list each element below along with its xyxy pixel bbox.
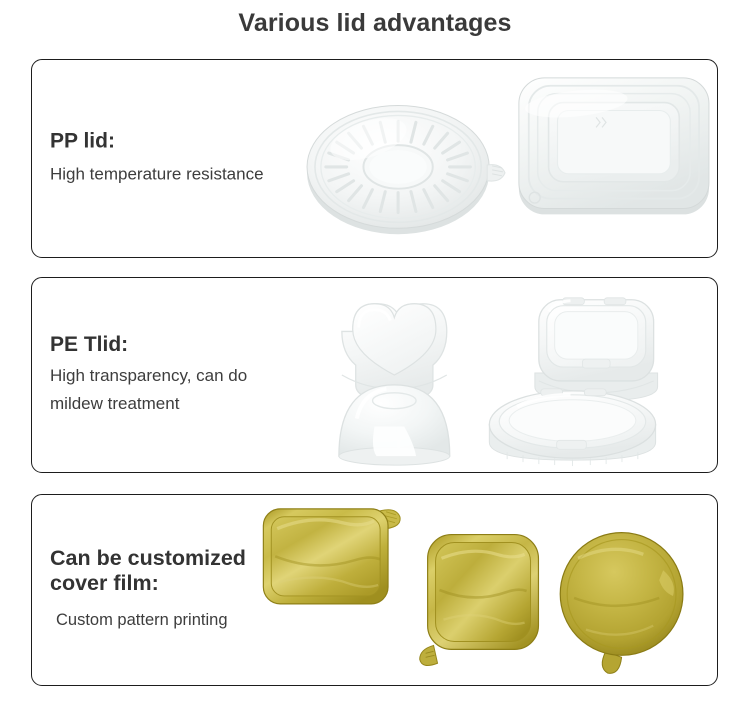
gold-round-foil-lid-image [560,533,683,674]
gold-square-foil-lid-image [420,535,539,666]
panel-pe-lid-text: PE Tlid: High transparency, can do milde… [50,333,350,417]
dome-pe-lid-image [339,385,450,465]
panel-pe-lid: PE Tlid: High transparency, can do milde… [31,277,718,473]
panel-pe-lid-images [327,278,717,472]
panel-cover-film: Can be customized cover film: Custom pat… [31,494,718,686]
oval-pe-lid-image [489,389,655,466]
rectangular-pp-lid-image [519,78,709,215]
round-pp-lid-tab [487,165,505,181]
panel-cover-film-images [257,495,717,685]
panel-pp-lid: PP lid: High temperature resistance [31,59,718,258]
panel-pp-lid-images [297,60,717,257]
round-pp-lid-image [307,106,505,235]
gold-rectangular-foil-lid-image [263,509,400,604]
page-title: Various lid advantages [0,9,750,38]
panel-pe-lid-subtitle: High transparency, can do mildew treatme… [50,362,350,417]
square-pe-lid-image [535,298,658,401]
panel-pe-lid-heading: PE Tlid: [50,333,350,357]
